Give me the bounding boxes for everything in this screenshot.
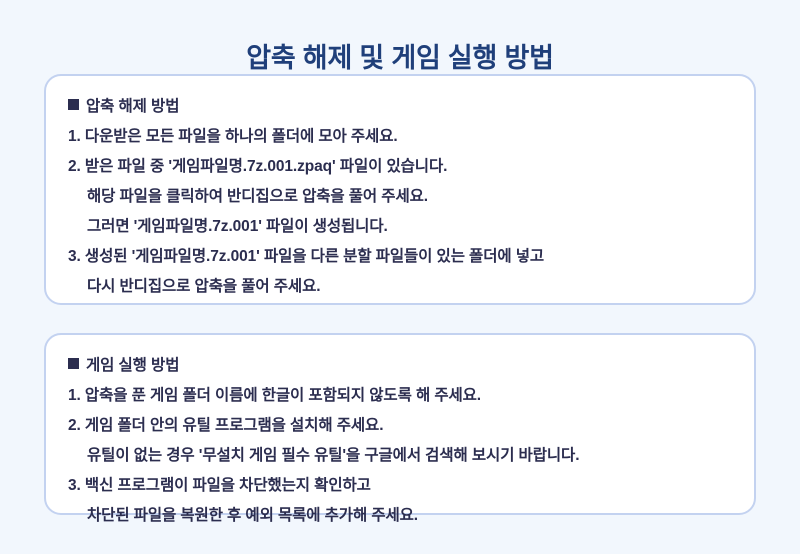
square-bullet-icon bbox=[68, 358, 79, 369]
card-unzip-line-3: 해당 파일을 클릭하여 반디집으로 압축을 풀어 주세요. bbox=[68, 182, 732, 212]
card-unzip-heading-label: 압축 해제 방법 bbox=[86, 98, 179, 115]
card-unzip-line-4: 그러면 '게임파일명.7z.001' 파일이 생성됩니다. bbox=[68, 212, 732, 242]
card-run-content: 게임 실행 방법 1. 압축을 푼 게임 폴더 이름에 한글이 포함되지 않도록… bbox=[46, 335, 754, 545]
card-run-heading-label: 게임 실행 방법 bbox=[86, 357, 179, 374]
card-unzip-line-6: 다시 반디집으로 압축을 풀어 주세요. bbox=[68, 272, 732, 302]
card-unzip-line-5: 3. 생성된 '게임파일명.7z.001' 파일을 다른 분할 파일들이 있는 … bbox=[68, 242, 732, 272]
card-unzip-line-2: 2. 받은 파일 중 '게임파일명.7z.001.zpaq' 파일이 있습니다. bbox=[68, 152, 732, 182]
card-run-line-3: 유틸이 없는 경우 '무설치 게임 필수 유틸'을 구글에서 검색해 보시기 바… bbox=[68, 441, 732, 471]
card-run: 게임 실행 방법 1. 압축을 푼 게임 폴더 이름에 한글이 포함되지 않도록… bbox=[44, 333, 756, 515]
card-unzip: 압축 해제 방법 1. 다운받은 모든 파일을 하나의 폴더에 모아 주세요. … bbox=[44, 74, 756, 305]
card-run-line-5: 차단된 파일을 복원한 후 예외 목록에 추가해 주세요. bbox=[68, 501, 732, 531]
card-run-line-1: 1. 압축을 푼 게임 폴더 이름에 한글이 포함되지 않도록 해 주세요. bbox=[68, 381, 732, 411]
card-unzip-content: 압축 해제 방법 1. 다운받은 모든 파일을 하나의 폴더에 모아 주세요. … bbox=[46, 76, 754, 316]
square-bullet-icon bbox=[68, 99, 79, 110]
card-unzip-line-1: 1. 다운받은 모든 파일을 하나의 폴더에 모아 주세요. bbox=[68, 122, 732, 152]
card-unzip-heading: 압축 해제 방법 bbox=[68, 92, 732, 122]
instructions-page: 압축 해제 및 게임 실행 방법 압축 해제 방법 1. 다운받은 모든 파일을… bbox=[0, 0, 800, 554]
card-run-line-4: 3. 백신 프로그램이 파일을 차단했는지 확인하고 bbox=[68, 471, 732, 501]
card-run-line-2: 2. 게임 폴더 안의 유틸 프로그램을 설치해 주세요. bbox=[68, 411, 732, 441]
card-run-heading: 게임 실행 방법 bbox=[68, 351, 732, 381]
page-title: 압축 해제 및 게임 실행 방법 bbox=[0, 42, 800, 76]
